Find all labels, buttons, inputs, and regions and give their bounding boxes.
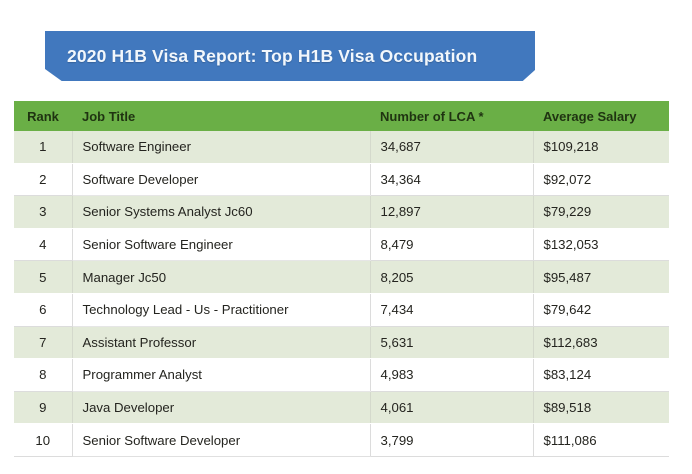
- cell-number-of-lca: 4,983: [370, 359, 533, 392]
- cell-average-salary: $79,642: [533, 293, 669, 326]
- cell-rank: 7: [14, 326, 72, 359]
- cell-number-of-lca: 3,799: [370, 424, 533, 457]
- table-row: 1Software Engineer34,687$109,218: [14, 131, 669, 163]
- cell-rank: 8: [14, 359, 72, 392]
- cell-job-title: Senior Software Developer: [72, 424, 370, 457]
- cell-number-of-lca: 8,205: [370, 261, 533, 294]
- cell-average-salary: $89,518: [533, 391, 669, 424]
- cell-job-title: Senior Software Engineer: [72, 228, 370, 261]
- table-header-row: Rank Job Title Number of LCA * Average S…: [14, 101, 669, 131]
- cell-average-salary: $132,053: [533, 228, 669, 261]
- cell-rank: 3: [14, 196, 72, 229]
- cell-number-of-lca: 12,897: [370, 196, 533, 229]
- table-row: 6Technology Lead - Us - Practitioner7,43…: [14, 293, 669, 326]
- cell-number-of-lca: 7,434: [370, 293, 533, 326]
- cell-rank: 4: [14, 228, 72, 261]
- table-row: 5Manager Jc508,205$95,487: [14, 261, 669, 294]
- h1b-occupation-table: Rank Job Title Number of LCA * Average S…: [14, 101, 669, 457]
- cell-job-title: Technology Lead - Us - Practitioner: [72, 293, 370, 326]
- table-body: 1Software Engineer34,687$109,2182Softwar…: [14, 131, 669, 456]
- cell-average-salary: $112,683: [533, 326, 669, 359]
- cell-job-title: Assistant Professor: [72, 326, 370, 359]
- cell-rank: 6: [14, 293, 72, 326]
- column-header-title: Job Title: [72, 101, 370, 131]
- title-banner: 2020 H1B Visa Report: Top H1B Visa Occup…: [45, 31, 535, 81]
- cell-job-title: Java Developer: [72, 391, 370, 424]
- report-table-container: Rank Job Title Number of LCA * Average S…: [14, 101, 669, 457]
- cell-job-title: Software Engineer: [72, 131, 370, 163]
- table-row: 7Assistant Professor5,631$112,683: [14, 326, 669, 359]
- cell-job-title: Manager Jc50: [72, 261, 370, 294]
- cell-rank: 1: [14, 131, 72, 163]
- table-row: 3Senior Systems Analyst Jc6012,897$79,22…: [14, 196, 669, 229]
- cell-number-of-lca: 5,631: [370, 326, 533, 359]
- cell-number-of-lca: 34,364: [370, 163, 533, 196]
- title-banner-shape: 2020 H1B Visa Report: Top H1B Visa Occup…: [45, 31, 535, 81]
- cell-number-of-lca: 34,687: [370, 131, 533, 163]
- cell-job-title: Software Developer: [72, 163, 370, 196]
- cell-average-salary: $95,487: [533, 261, 669, 294]
- column-header-salary: Average Salary: [533, 101, 669, 131]
- table-row: 4Senior Software Engineer8,479$132,053: [14, 228, 669, 261]
- column-header-rank: Rank: [14, 101, 72, 131]
- page-title: 2020 H1B Visa Report: Top H1B Visa Occup…: [45, 46, 477, 67]
- cell-rank: 9: [14, 391, 72, 424]
- table-header: Rank Job Title Number of LCA * Average S…: [14, 101, 669, 131]
- table-row: 9Java Developer4,061$89,518: [14, 391, 669, 424]
- cell-average-salary: $92,072: [533, 163, 669, 196]
- cell-rank: 5: [14, 261, 72, 294]
- cell-average-salary: $109,218: [533, 131, 669, 163]
- column-header-lca: Number of LCA *: [370, 101, 533, 131]
- cell-average-salary: $111,086: [533, 424, 669, 457]
- table-row: 2Software Developer34,364$92,072: [14, 163, 669, 196]
- cell-number-of-lca: 8,479: [370, 228, 533, 261]
- table-row: 10Senior Software Developer3,799$111,086: [14, 424, 669, 457]
- cell-number-of-lca: 4,061: [370, 391, 533, 424]
- cell-job-title: Senior Systems Analyst Jc60: [72, 196, 370, 229]
- cell-job-title: Programmer Analyst: [72, 359, 370, 392]
- cell-rank: 2: [14, 163, 72, 196]
- cell-rank: 10: [14, 424, 72, 457]
- cell-average-salary: $83,124: [533, 359, 669, 392]
- cell-average-salary: $79,229: [533, 196, 669, 229]
- table-row: 8Programmer Analyst4,983$83,124: [14, 359, 669, 392]
